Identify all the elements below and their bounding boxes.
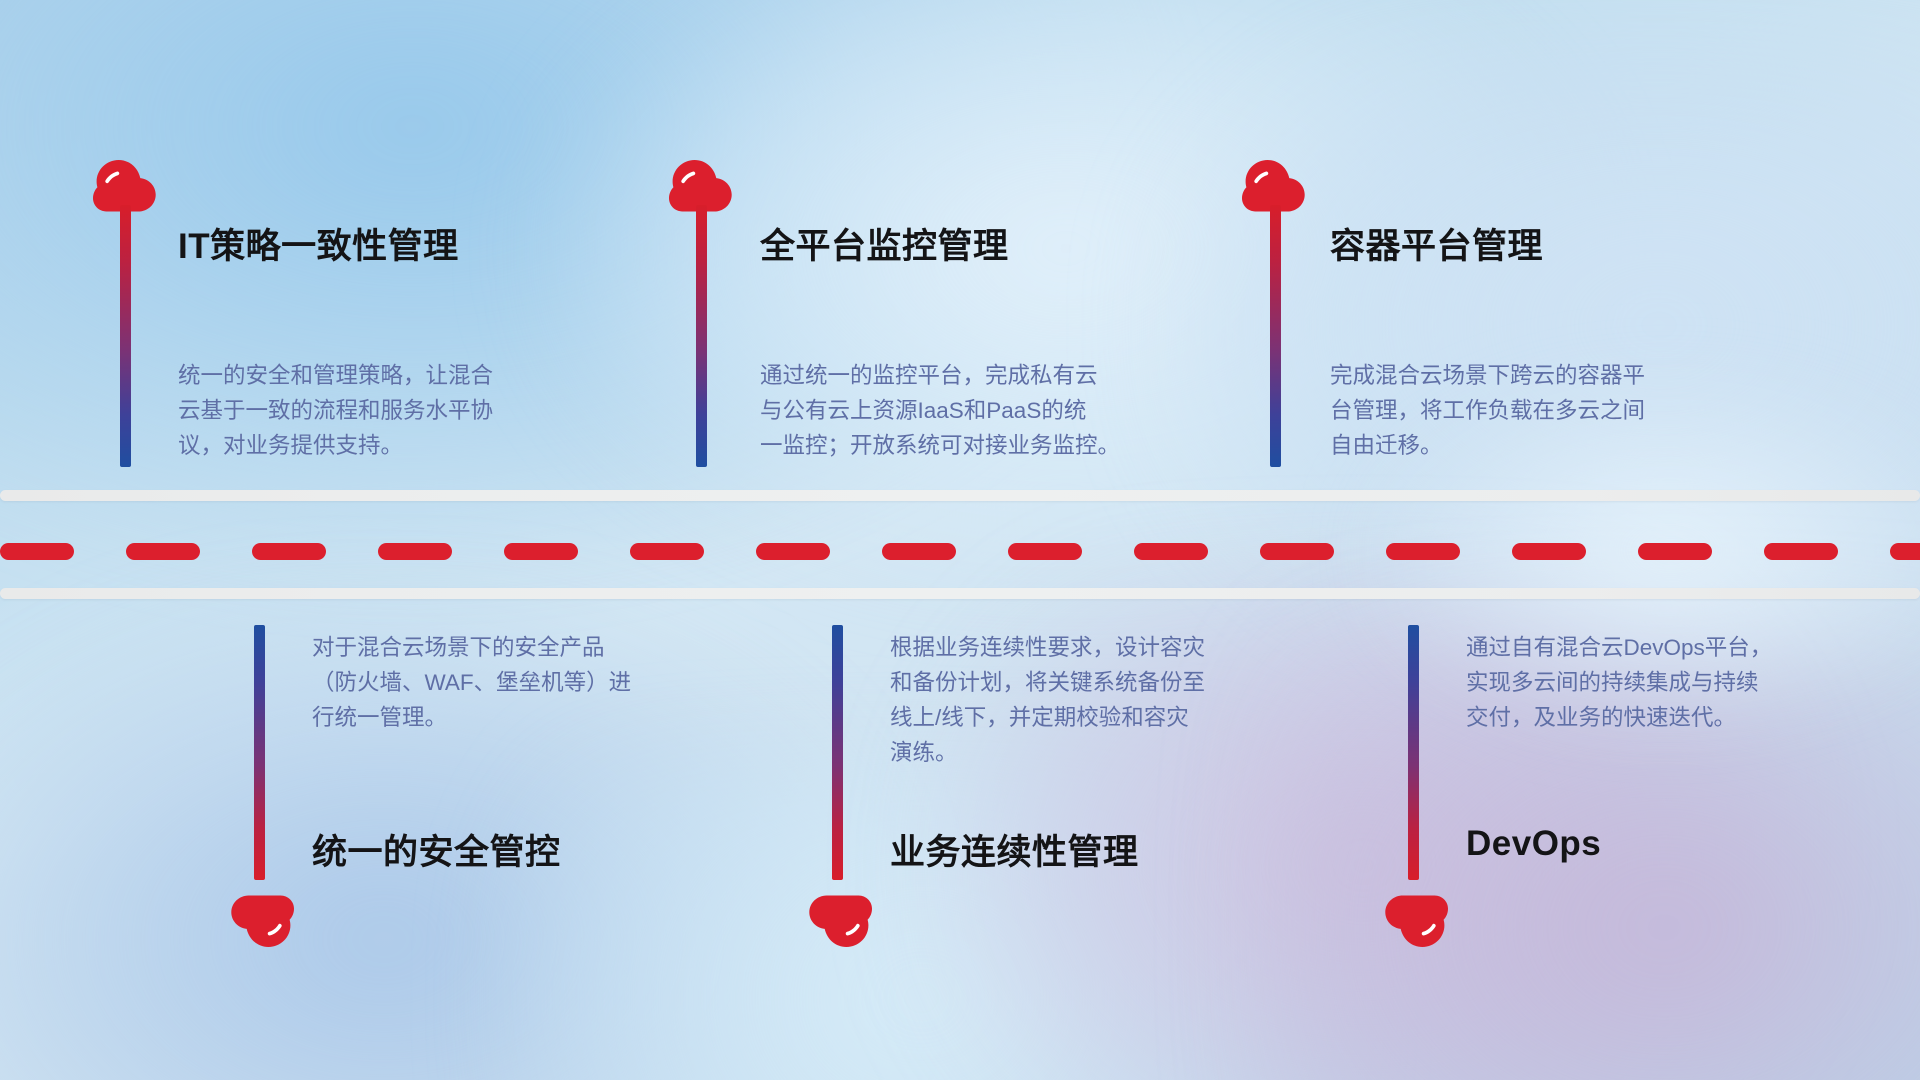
road-center-dash bbox=[630, 543, 704, 560]
bottom-item-1-title: 统一的安全管控 bbox=[312, 824, 561, 875]
road-center-dash bbox=[1890, 543, 1920, 560]
road-edge-bottom bbox=[0, 588, 1920, 599]
body-line: 实现多云间的持续集成与持续 bbox=[1466, 665, 1886, 700]
top-item-2-body: 通过统一的监控平台，完成私有云 与公有云上资源IaaS和PaaS的统 一监控；开… bbox=[760, 358, 1180, 463]
road-center-dash bbox=[1134, 543, 1208, 560]
road-center-dash bbox=[252, 543, 326, 560]
body-line: 对于混合云场景下的安全产品 bbox=[312, 630, 732, 665]
road-center-dash bbox=[1008, 543, 1082, 560]
cloud-icon bbox=[228, 895, 294, 947]
body-line: 线上/线下，并定期校验和容灾 bbox=[890, 700, 1310, 735]
body-line: 完成混合云场景下跨云的容器平 bbox=[1330, 358, 1750, 393]
bottom-item-1-body: 对于混合云场景下的安全产品 （防火墙、WAF、堡垒机等）进 行统一管理。 bbox=[312, 630, 732, 735]
cloud-icon bbox=[806, 895, 872, 947]
bottom-item-2-body: 根据业务连续性要求，设计容灾 和备份计划，将关键系统备份至 线上/线下，并定期校… bbox=[890, 630, 1310, 770]
body-line: 云基于一致的流程和服务水平协 bbox=[178, 393, 598, 428]
top-item-1-title: IT策略一致性管理 bbox=[178, 218, 459, 269]
body-line: 演练。 bbox=[890, 735, 1310, 770]
road-center-dash bbox=[378, 543, 452, 560]
bottom-item-3-body: 通过自有混合云DevOps平台， 实现多云间的持续集成与持续 交付，及业务的快速… bbox=[1466, 630, 1886, 735]
top-item-3-title: 容器平台管理 bbox=[1330, 218, 1543, 269]
body-line: 和备份计划，将关键系统备份至 bbox=[890, 665, 1310, 700]
connector-bar bbox=[120, 205, 131, 467]
connector-bar bbox=[832, 625, 843, 880]
body-line: 一监控；开放系统可对接业务监控。 bbox=[760, 428, 1180, 463]
road-center-dash bbox=[1386, 543, 1460, 560]
cloud-icon bbox=[1382, 895, 1448, 947]
road-center-dash bbox=[1638, 543, 1712, 560]
road-center-line bbox=[0, 543, 1920, 560]
body-line: 统一的安全和管理策略，让混合 bbox=[178, 358, 598, 393]
body-line: 通过自有混合云DevOps平台， bbox=[1466, 630, 1886, 665]
road-center-dash bbox=[126, 543, 200, 560]
body-line: 根据业务连续性要求，设计容灾 bbox=[890, 630, 1310, 665]
road-center-dash bbox=[1260, 543, 1334, 560]
road-center-dash bbox=[1764, 543, 1838, 560]
connector-bar bbox=[696, 205, 707, 467]
body-line: 与公有云上资源IaaS和PaaS的统 bbox=[760, 393, 1180, 428]
top-item-2-title: 全平台监控管理 bbox=[760, 218, 1009, 269]
bottom-item-2-title: 业务连续性管理 bbox=[890, 824, 1139, 875]
body-line: 自由迁移。 bbox=[1330, 428, 1750, 463]
connector-bar bbox=[1408, 625, 1419, 880]
top-item-1-body: 统一的安全和管理策略，让混合 云基于一致的流程和服务水平协 议，对业务提供支持。 bbox=[178, 358, 598, 463]
top-item-3-body: 完成混合云场景下跨云的容器平 台管理，将工作负载在多云之间 自由迁移。 bbox=[1330, 358, 1750, 463]
road-center-dash bbox=[0, 543, 74, 560]
body-line: 交付，及业务的快速迭代。 bbox=[1466, 700, 1886, 735]
road-center-dash bbox=[882, 543, 956, 560]
road-center-dash bbox=[756, 543, 830, 560]
infographic-canvas: IT策略一致性管理 统一的安全和管理策略，让混合 云基于一致的流程和服务水平协 … bbox=[0, 0, 1920, 1080]
connector-bar bbox=[254, 625, 265, 880]
road-center-dash bbox=[1512, 543, 1586, 560]
body-line: （防火墙、WAF、堡垒机等）进 bbox=[312, 665, 732, 700]
body-line: 台管理，将工作负载在多云之间 bbox=[1330, 393, 1750, 428]
road-center-dash bbox=[504, 543, 578, 560]
connector-bar bbox=[1270, 205, 1281, 467]
body-line: 通过统一的监控平台，完成私有云 bbox=[760, 358, 1180, 393]
bottom-item-3-title: DevOps bbox=[1466, 824, 1601, 864]
road-edge-top bbox=[0, 490, 1920, 501]
body-line: 议，对业务提供支持。 bbox=[178, 428, 598, 463]
body-line: 行统一管理。 bbox=[312, 700, 732, 735]
